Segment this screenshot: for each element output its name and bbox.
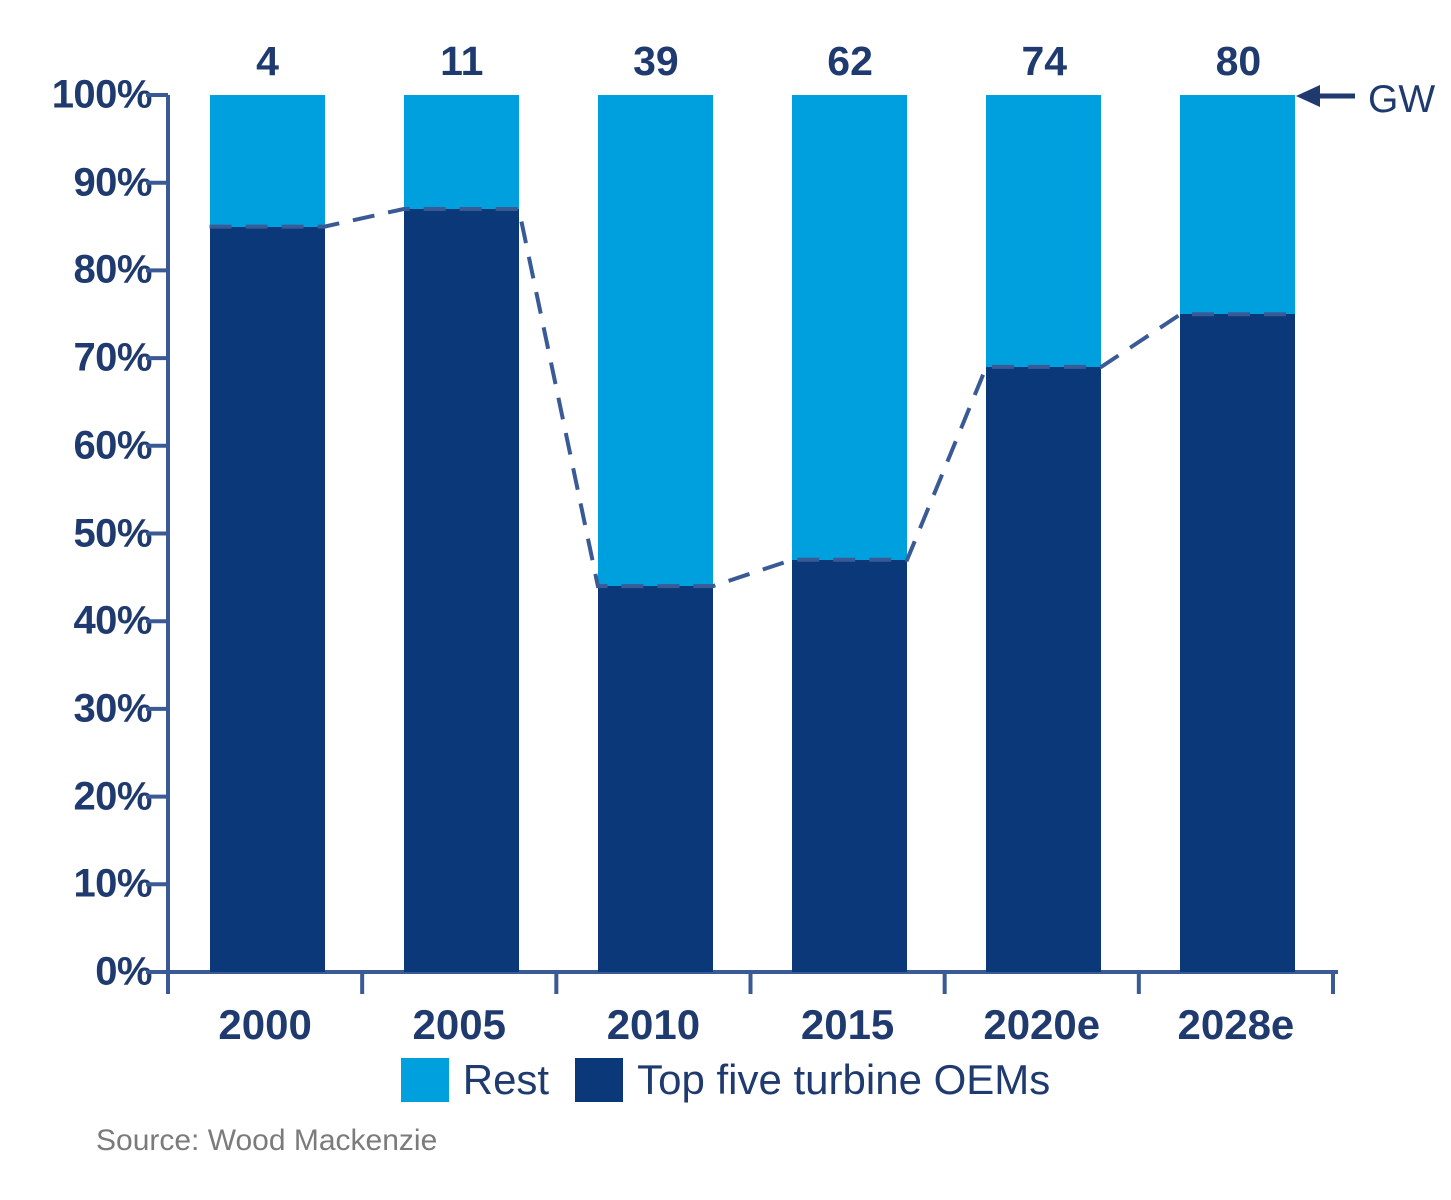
bar-segment-top-five-oems[interactable] [792,560,907,972]
y-axis-tick-label: 70% [2,336,152,381]
bar-total-gw-label: 74 [944,38,1144,85]
bar-total-gw-label: 39 [556,38,756,85]
x-axis-tick-label: 2028e [1126,1001,1346,1049]
bar-segment-top-five-oems[interactable] [598,586,713,972]
chart-container: 0%10%20%30%40%50%60%70%80%90%100% 411396… [0,0,1451,1200]
bar-total-gw-label: 62 [750,38,950,85]
chart-legend: RestTop five turbine OEMs [0,1058,1451,1102]
bar-segment-rest[interactable] [598,95,713,586]
y-axis-tick-label: 20% [2,774,152,819]
y-axis-tick-label: 90% [2,160,152,205]
bar-segment-rest[interactable] [1180,95,1295,314]
bar-segment-top-five-oems[interactable] [404,209,519,972]
bar-total-gw-label: 4 [168,38,368,85]
legend-item[interactable]: Top five turbine OEMs [575,1058,1050,1102]
bar-total-gw-label: 80 [1138,38,1338,85]
x-axis-tick-label: 2010 [543,1001,763,1049]
x-axis-tick-label: 2015 [738,1001,958,1049]
y-axis: 0%10%20%30%40%50%60%70%80%90%100% [0,0,152,1200]
bar-column[interactable]: 62 [792,95,907,972]
y-axis-tick-label: 40% [2,599,152,644]
bar-segment-rest[interactable] [210,95,325,227]
legend-label: Top five turbine OEMs [637,1059,1050,1101]
y-axis-tick-label: 30% [2,686,152,731]
bar-column[interactable]: 74 [986,95,1101,972]
y-axis-tick-label: 80% [2,248,152,293]
bar-segment-rest[interactable] [404,95,519,209]
bar-segment-top-five-oems[interactable] [986,367,1101,972]
legend-color-swatch [575,1058,623,1102]
bar-column[interactable]: 80 [1180,95,1295,972]
y-axis-tick-label: 100% [2,73,152,118]
bar-segment-top-five-oems[interactable] [210,227,325,972]
bar-column[interactable]: 4 [210,95,325,972]
y-axis-tick-label: 10% [2,862,152,907]
bar-segment-top-five-oems[interactable] [1180,314,1295,972]
legend-color-swatch [401,1058,449,1102]
bar-segment-rest[interactable] [792,95,907,560]
legend-item[interactable]: Rest [401,1058,549,1102]
bar-total-gw-label: 11 [362,38,562,85]
gw-unit-label: GW [1368,78,1435,122]
plot-area: 41139627480 [168,95,1333,972]
x-axis-tick-label: 2000 [155,1001,375,1049]
y-axis-tick-label: 50% [2,511,152,556]
x-axis-tick-label: 2020e [932,1001,1152,1049]
bar-column[interactable]: 11 [404,95,519,972]
bar-column[interactable]: 39 [598,95,713,972]
source-note: Source: Wood Mackenzie [96,1124,437,1158]
y-axis-tick-label: 0% [2,950,152,995]
legend-label: Rest [463,1059,549,1101]
bar-segment-rest[interactable] [986,95,1101,367]
y-axis-tick-label: 60% [2,423,152,468]
x-axis-tick-label: 2005 [349,1001,569,1049]
